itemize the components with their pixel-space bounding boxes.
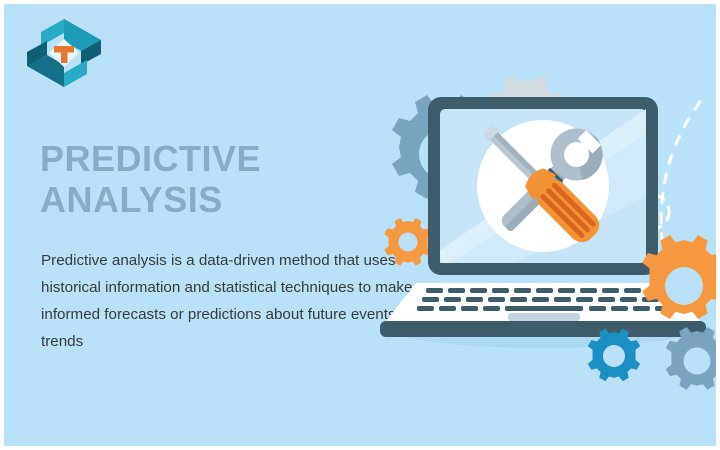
title-line-2: ANALYSIS [40, 179, 223, 220]
gear-orange-left-icon [384, 218, 431, 266]
laptop-illustration [364, 64, 720, 394]
laptop-screen [428, 97, 658, 275]
page-title: PREDICTIVEANALYSIS [40, 138, 400, 220]
laptop-trackpad [508, 313, 580, 321]
title-line-1: PREDICTIVE [40, 138, 261, 179]
brand-logo [25, 17, 103, 89]
poster-canvas: PREDICTIVEANALYSIS Predictive analysis i… [0, 0, 720, 450]
dashed-arc [661, 102, 700, 260]
